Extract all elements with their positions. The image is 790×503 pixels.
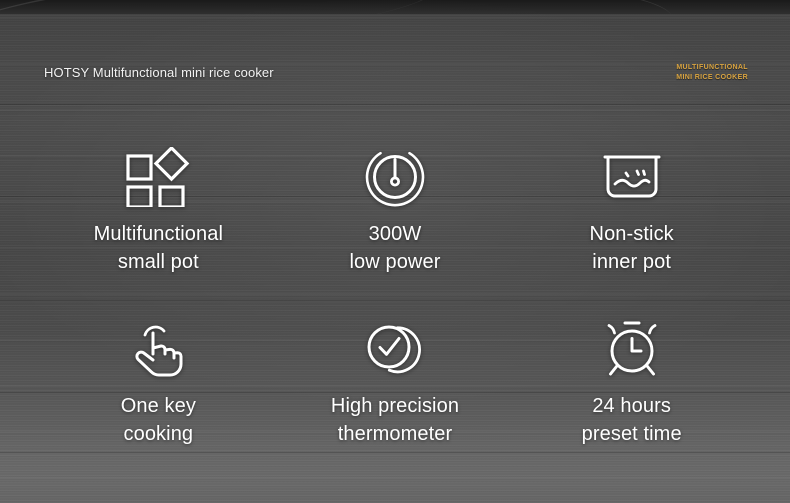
four-blocks-icon bbox=[125, 140, 191, 214]
feature-label-line-2: thermometer bbox=[331, 420, 459, 448]
feature-label: High precision thermometer bbox=[331, 392, 459, 448]
feature-label-line-2: small pot bbox=[94, 248, 223, 276]
feature-label-line-2: inner pot bbox=[590, 248, 674, 276]
page-title: HOTSY Multifunctional mini rice cooker bbox=[44, 65, 274, 80]
brand-logo-line-1: MULTIFUNCTIONAL bbox=[676, 64, 748, 71]
feature-card-non-stick-inner-pot: Non-stick inner pot bbox=[513, 140, 750, 312]
dark-top-board bbox=[0, 0, 790, 14]
feature-label-line-1: High precision bbox=[331, 395, 459, 417]
brand-logo-line-2: MINI RICE COOKER bbox=[676, 74, 748, 81]
product-feature-banner: HOTSY Multifunctional mini rice cooker M… bbox=[0, 0, 790, 503]
tap-hand-icon bbox=[126, 312, 190, 386]
feature-card-24-hours-preset-time: 24 hours preset time bbox=[513, 312, 750, 484]
feature-label: Multifunctional small pot bbox=[94, 220, 223, 276]
feature-label-line-2: preset time bbox=[582, 420, 682, 448]
feature-card-high-precision-thermometer: High precision thermometer bbox=[277, 312, 514, 484]
feature-label: 24 hours preset time bbox=[582, 392, 682, 448]
feature-label-line-2: low power bbox=[350, 248, 441, 276]
feature-label: 300W low power bbox=[350, 220, 441, 276]
feature-label-line-2: cooking bbox=[121, 420, 196, 448]
alarm-clock-icon bbox=[599, 312, 665, 386]
feature-label-line-1: 24 hours bbox=[592, 395, 671, 417]
gauge-icon bbox=[363, 140, 427, 214]
brand-logo: MULTIFUNCTIONAL MINI RICE COOKER bbox=[676, 63, 748, 83]
feature-grid: Multifunctional small pot 300W bbox=[40, 140, 750, 484]
feature-label-line-1: Multifunctional bbox=[94, 223, 223, 245]
feature-label: Non-stick inner pot bbox=[590, 220, 674, 276]
nonstick-pot-icon bbox=[599, 140, 665, 214]
check-circles-icon bbox=[363, 312, 427, 386]
feature-label-line-1: One key bbox=[121, 395, 196, 417]
feature-label: One key cooking bbox=[121, 392, 196, 448]
feature-card-300w-low-power: 300W low power bbox=[277, 140, 514, 312]
feature-card-multifunctional-small-pot: Multifunctional small pot bbox=[40, 140, 277, 312]
feature-card-one-key-cooking: One key cooking bbox=[40, 312, 277, 484]
feature-label-line-1: Non-stick bbox=[590, 223, 674, 245]
feature-label-line-1: 300W bbox=[369, 223, 422, 245]
